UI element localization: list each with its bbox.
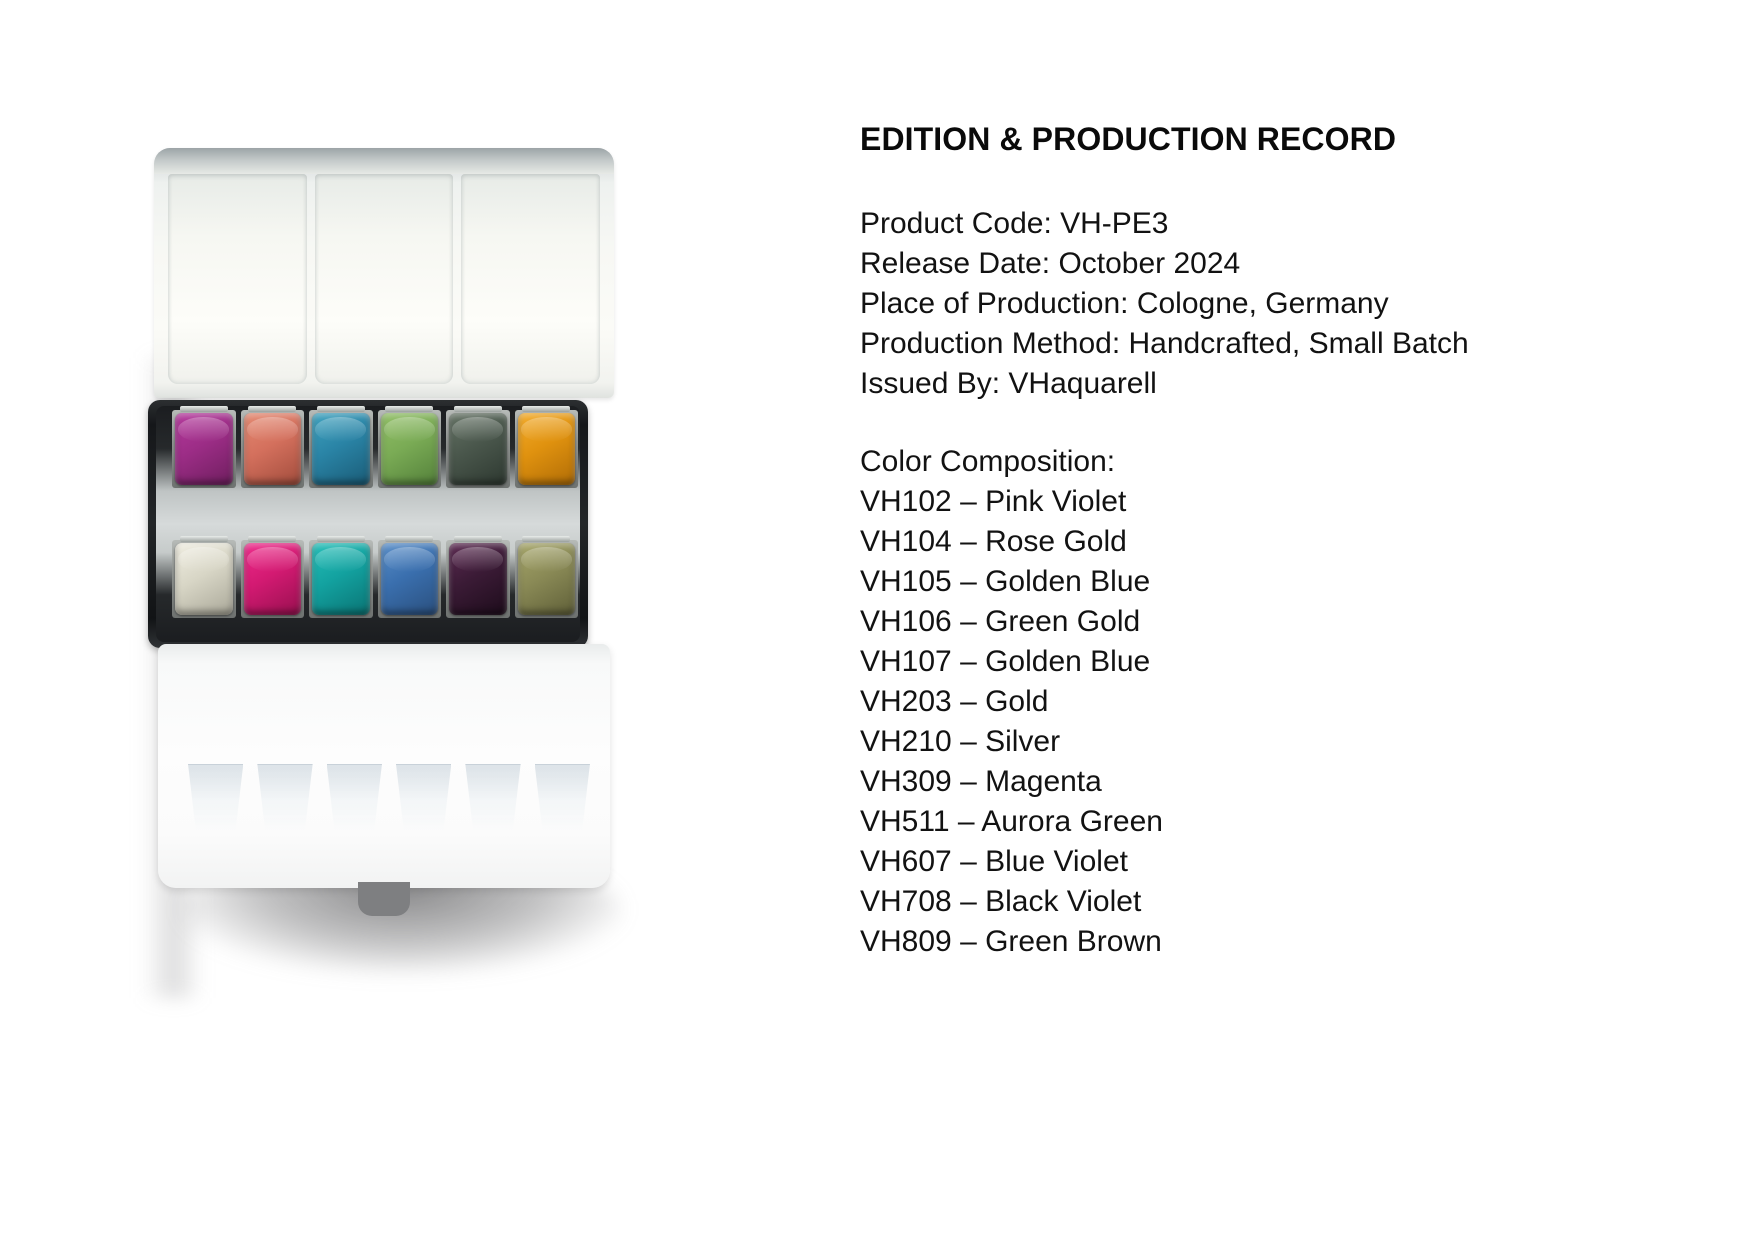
color-list-item: VH309 – Magenta (860, 762, 1680, 802)
record-title: EDITION & PRODUCTION RECORD (860, 120, 1680, 158)
color-composition-heading: Color Composition: (860, 442, 1680, 482)
tin-bottom-tray (158, 644, 610, 888)
pan-clip (317, 536, 365, 542)
green-brown-pan (518, 543, 576, 615)
lid-rim (154, 148, 614, 174)
product-photo (0, 0, 820, 1240)
paint-pan-body (148, 400, 588, 648)
record-detail-release-date: Release Date: October 2024 (860, 244, 1680, 284)
pan-slot (172, 540, 236, 618)
pan-clip (385, 406, 433, 412)
tray-mixing-well (465, 764, 520, 830)
lid-mixing-well (461, 174, 600, 384)
turquoise-pan (312, 543, 370, 615)
pan-slot (378, 540, 442, 618)
rose-gold-pan (244, 413, 302, 485)
record-detail-place-of-production: Place of Production: Cologne, Germany (860, 284, 1680, 324)
pan-slot (515, 410, 579, 488)
pan-clip (385, 536, 433, 542)
pan-clip (317, 406, 365, 412)
blue-pan (381, 543, 439, 615)
pan-clip (454, 536, 502, 542)
color-list-item: VH104 – Rose Gold (860, 522, 1680, 562)
tray-mixing-well (327, 764, 382, 830)
pan-slot (378, 410, 442, 488)
record-detail-issued-by: Issued By: VHaquarell (860, 364, 1680, 404)
magenta-pan (244, 543, 302, 615)
lid-mixing-wells (168, 174, 600, 384)
tin-lid (154, 148, 614, 398)
color-list-item: VH107 – Golden Blue (860, 642, 1680, 682)
pan-clip (454, 406, 502, 412)
pan-slot (309, 540, 373, 618)
edition-production-record: EDITION & PRODUCTION RECORD Product Code… (860, 120, 1680, 962)
tray-mixing-wells (188, 764, 590, 830)
color-list-item: VH102 – Pink Violet (860, 482, 1680, 522)
lid-mixing-well (168, 174, 307, 384)
pan-clip (180, 406, 228, 412)
color-list-item: VH106 – Green Gold (860, 602, 1680, 642)
pan-slot (446, 410, 510, 488)
green-gold-pan (381, 413, 439, 485)
pan-slot (241, 410, 305, 488)
dark-olive-pan (449, 413, 507, 485)
color-list-item: VH607 – Blue Violet (860, 842, 1680, 882)
pan-clip (248, 536, 296, 542)
pan-clip (522, 406, 570, 412)
orange-gold-pan (518, 413, 576, 485)
lid-mixing-well (315, 174, 454, 384)
tray-thumb-notch (358, 882, 410, 916)
color-list-item: VH203 – Gold (860, 682, 1680, 722)
tray-mixing-well (535, 764, 590, 830)
pan-clip (522, 536, 570, 542)
pan-slot (515, 540, 579, 618)
paint-pan-row-bottom (172, 540, 578, 618)
pan-slot (446, 540, 510, 618)
magenta-purple-pan (175, 413, 233, 485)
pan-clip (248, 406, 296, 412)
record-detail-production-method: Production Method: Handcrafted, Small Ba… (860, 324, 1680, 364)
paint-pan-row-top (172, 410, 578, 488)
pan-clip (180, 536, 228, 542)
record-detail-product-code: Product Code: VH-PE3 (860, 204, 1680, 244)
record-spacer (860, 404, 1680, 442)
tray-mixing-well (188, 764, 243, 830)
pan-slot (309, 410, 373, 488)
pan-slot (172, 410, 236, 488)
color-list-item: VH708 – Black Violet (860, 882, 1680, 922)
teal-blue-pan (312, 413, 370, 485)
color-composition-list: VH102 – Pink Violet VH104 – Rose Gold VH… (860, 482, 1680, 962)
color-list-item: VH511 – Aurora Green (860, 802, 1680, 842)
tray-mixing-well (396, 764, 451, 830)
pan-slot (241, 540, 305, 618)
watercolor-tin (148, 148, 618, 908)
black-violet-pan (449, 543, 507, 615)
color-list-item: VH210 – Silver (860, 722, 1680, 762)
color-list-item: VH809 – Green Brown (860, 922, 1680, 962)
tray-mixing-well (257, 764, 312, 830)
color-list-item: VH105 – Golden Blue (860, 562, 1680, 602)
silver-pan (175, 543, 233, 615)
